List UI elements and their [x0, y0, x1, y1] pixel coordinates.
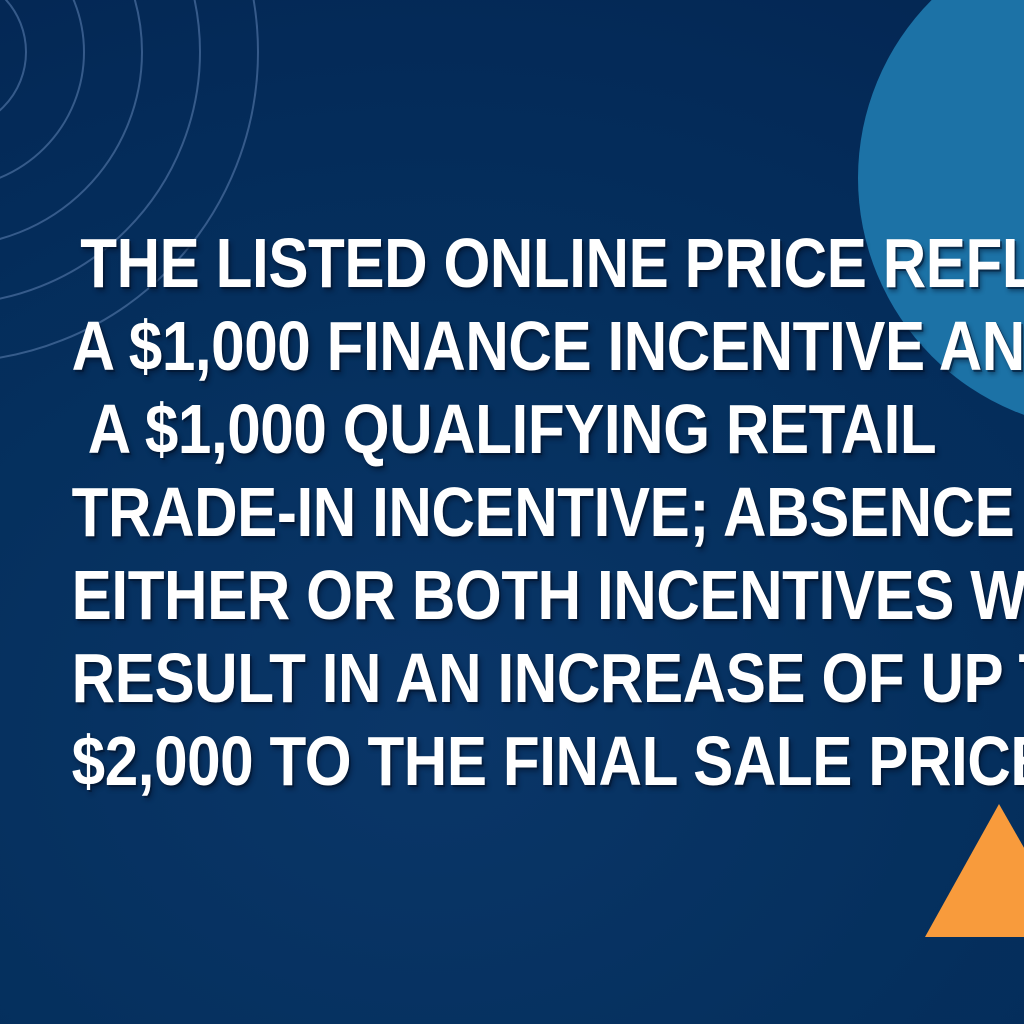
accent-triangle	[925, 804, 1024, 937]
headline-line-7: $2,000 TO THE FINAL SALE PRICE.	[72, 720, 953, 803]
headline-line-1: THE LISTED ONLINE PRICE REFLECTS	[72, 222, 953, 305]
headline-line-3: A $1,000 QUALIFYING RETAIL	[72, 388, 953, 471]
headline-line-6: RESULT IN AN INCREASE OF UP TO	[72, 637, 953, 720]
headline-line-4: TRADE-IN INCENTIVE; ABSENCE OF	[72, 471, 953, 554]
headline-line-2: A $1,000 FINANCE INCENTIVE AND	[72, 305, 953, 388]
headline-line-5: EITHER OR BOTH INCENTIVES WILL	[72, 554, 953, 637]
headline-block: THE LISTED ONLINE PRICE REFLECTS A $1,00…	[0, 222, 1024, 803]
disclaimer-graphic: THE LISTED ONLINE PRICE REFLECTS A $1,00…	[0, 0, 1024, 1024]
